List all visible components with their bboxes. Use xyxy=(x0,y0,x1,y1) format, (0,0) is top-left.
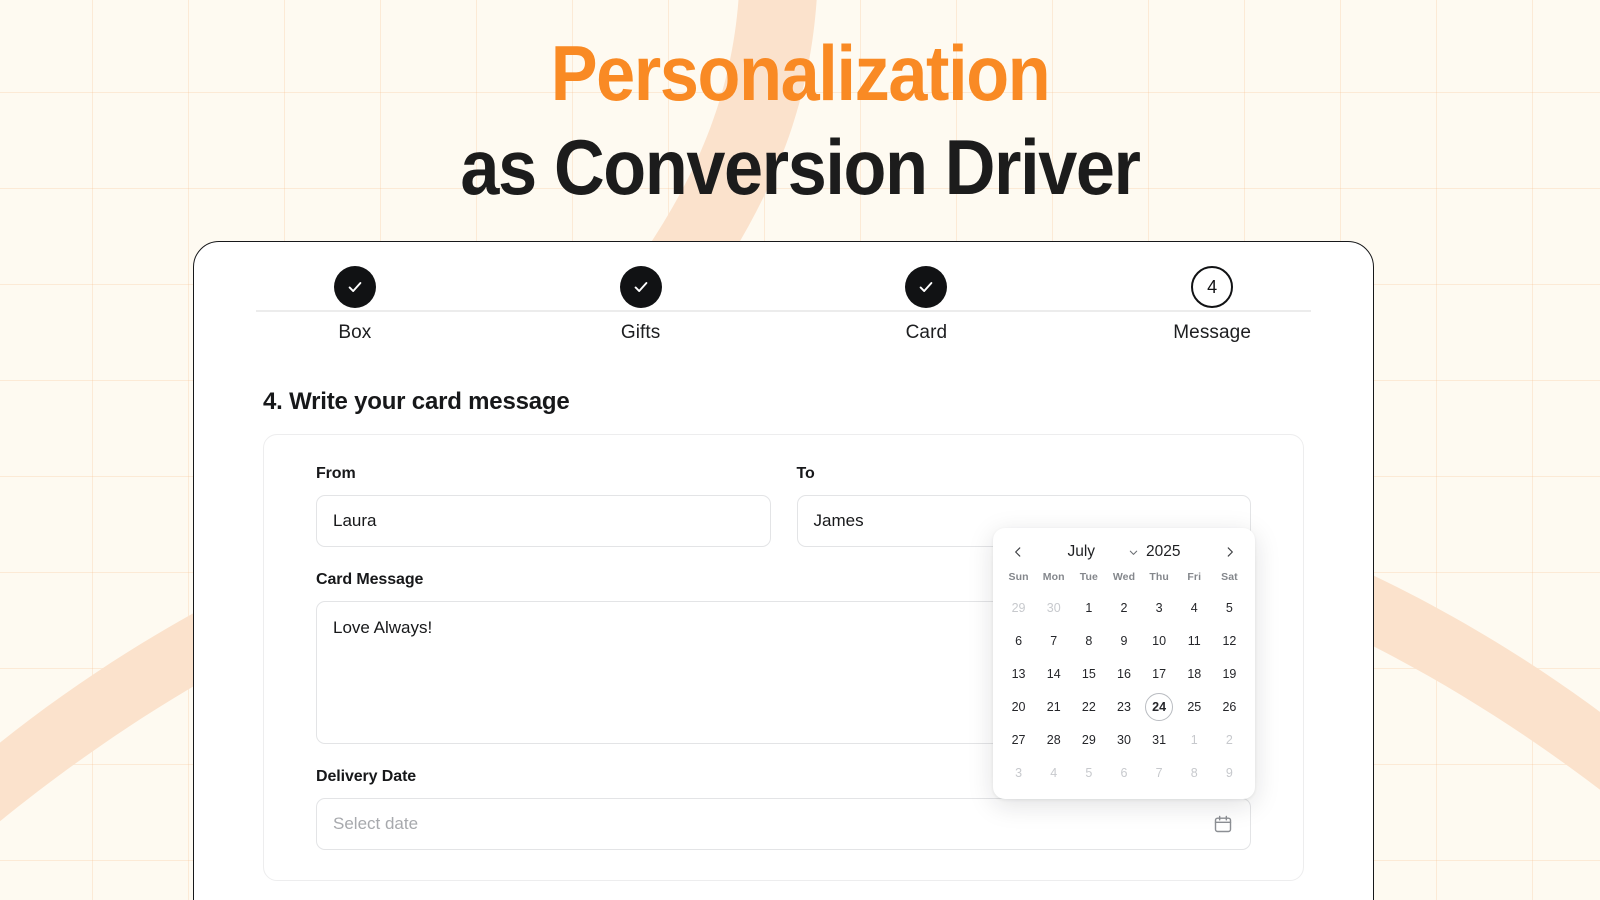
calendar-day-label: 12 xyxy=(1215,627,1243,655)
hero-title-line-1: Personalization xyxy=(80,26,1520,120)
calendar-header: July 2025 xyxy=(1001,540,1247,571)
calendar-day-label: 1 xyxy=(1180,726,1208,754)
calendar-day-label: 5 xyxy=(1215,594,1243,622)
calendar-day-label: 16 xyxy=(1110,660,1138,688)
calendar-day-cell[interactable]: 14 xyxy=(1036,657,1071,690)
calendar-day-label: 3 xyxy=(1005,759,1033,787)
calendar-day-cell[interactable]: 21 xyxy=(1036,690,1071,723)
calendar-day-label: 15 xyxy=(1075,660,1103,688)
calendar-day-label: 30 xyxy=(1040,594,1068,622)
calendar-day-cell[interactable]: 4 xyxy=(1177,591,1212,624)
calendar-day-cell: 1 xyxy=(1177,723,1212,756)
calendar-day-cell[interactable]: 6 xyxy=(1001,624,1036,657)
calendar-day-label: 27 xyxy=(1005,726,1033,754)
calendar-day-label: 13 xyxy=(1005,660,1033,688)
calendar-day-label: 25 xyxy=(1180,693,1208,721)
calendar-day-label: 22 xyxy=(1075,693,1103,721)
calendar-day-label: 7 xyxy=(1040,627,1068,655)
stepper: Box Gifts Card 4 xyxy=(194,266,1373,374)
calendar-day-label: 19 xyxy=(1215,660,1243,688)
calendar-day-label: 11 xyxy=(1180,627,1208,655)
calendar-day-cell[interactable]: 28 xyxy=(1036,723,1071,756)
calendar-day-label: 29 xyxy=(1075,726,1103,754)
calendar-day-cell[interactable]: 20 xyxy=(1001,690,1036,723)
calendar-day-label: 4 xyxy=(1040,759,1068,787)
to-label: To xyxy=(797,465,1252,483)
calendar-weekday-header: Thu xyxy=(1142,571,1177,591)
calendar-day-label: 9 xyxy=(1215,759,1243,787)
check-icon xyxy=(632,278,650,296)
calendar-day-cell: 5 xyxy=(1071,756,1106,789)
decorative-swoosh-right xyxy=(1340,520,1600,900)
calendar-day-cell[interactable]: 19 xyxy=(1212,657,1247,690)
calendar-day-cell[interactable]: 24 xyxy=(1142,690,1177,723)
calendar-day-label: 24 xyxy=(1145,693,1173,721)
page-title: 4. Write your card message xyxy=(263,388,1373,416)
calendar-day-cell[interactable]: 16 xyxy=(1106,657,1141,690)
calendar-day-label: 20 xyxy=(1005,693,1033,721)
calendar-day-label: 6 xyxy=(1110,759,1138,787)
calendar-day-label: 29 xyxy=(1005,594,1033,622)
calendar-day-cell[interactable]: 27 xyxy=(1001,723,1036,756)
calendar-day-cell[interactable]: 13 xyxy=(1001,657,1036,690)
sidebar-item-card[interactable]: Card xyxy=(831,266,1021,344)
step-bubble-box[interactable] xyxy=(334,266,376,308)
calendar-day-label: 1 xyxy=(1075,594,1103,622)
calendar-day-cell[interactable]: 15 xyxy=(1071,657,1106,690)
calendar-day-cell[interactable]: 29 xyxy=(1071,723,1106,756)
calendar-day-label: 17 xyxy=(1145,660,1173,688)
check-icon xyxy=(917,278,935,296)
calendar-day-cell[interactable]: 7 xyxy=(1036,624,1071,657)
step-label-gifts: Gifts xyxy=(621,322,661,344)
step-label-box: Box xyxy=(338,322,371,344)
hero-title: Personalization as Conversion Driver xyxy=(0,26,1600,214)
date-picker-popup[interactable]: July 2025 SunMonTueWedThuFriSat293012345… xyxy=(993,528,1255,799)
calendar-weekday-header: Fri xyxy=(1177,571,1212,591)
calendar-day-label: 21 xyxy=(1040,693,1068,721)
calendar-day-cell[interactable]: 17 xyxy=(1142,657,1177,690)
calendar-day-cell: 29 xyxy=(1001,591,1036,624)
step-bubble-message[interactable]: 4 xyxy=(1191,266,1233,308)
calendar-day-label: 2 xyxy=(1215,726,1243,754)
calendar-day-label: 18 xyxy=(1180,660,1208,688)
calendar-day-cell[interactable]: 10 xyxy=(1142,624,1177,657)
calendar-weekday-header: Sun xyxy=(1001,571,1036,591)
from-field-group: From Laura xyxy=(316,465,771,547)
check-icon xyxy=(346,278,364,296)
calendar-day-label: 14 xyxy=(1040,660,1068,688)
calendar-day-cell[interactable]: 25 xyxy=(1177,690,1212,723)
calendar-day-cell[interactable]: 22 xyxy=(1071,690,1106,723)
calendar-day-label: 23 xyxy=(1110,693,1138,721)
calendar-day-label: 5 xyxy=(1075,759,1103,787)
calendar-day-cell: 8 xyxy=(1177,756,1212,789)
calendar-day-cell[interactable]: 5 xyxy=(1212,591,1247,624)
calendar-day-cell[interactable]: 2 xyxy=(1106,591,1141,624)
calendar-day-label: 10 xyxy=(1145,627,1173,655)
calendar-weekday-header: Wed xyxy=(1106,571,1141,591)
calendar-icon[interactable] xyxy=(1212,813,1234,835)
chevron-down-icon[interactable] xyxy=(1128,547,1139,558)
calendar-day-cell: 4 xyxy=(1036,756,1071,789)
calendar-day-label: 6 xyxy=(1005,627,1033,655)
step-label-message: Message xyxy=(1173,322,1251,344)
from-label: From xyxy=(316,465,771,483)
calendar-day-cell[interactable]: 9 xyxy=(1106,624,1141,657)
calendar-grid: SunMonTueWedThuFriSat2930123456789101112… xyxy=(1001,571,1247,789)
calendar-day-cell[interactable]: 31 xyxy=(1142,723,1177,756)
chevron-right-icon[interactable] xyxy=(1221,543,1239,561)
calendar-title-group: July 2025 xyxy=(1027,543,1221,561)
calendar-day-label: 4 xyxy=(1180,594,1208,622)
calendar-weekday-header: Tue xyxy=(1071,571,1106,591)
hero-title-line-2: as Conversion Driver xyxy=(80,120,1520,214)
calendar-day-label: 8 xyxy=(1075,627,1103,655)
calendar-month-label[interactable]: July xyxy=(1067,543,1095,561)
calendar-day-cell[interactable]: 1 xyxy=(1071,591,1106,624)
calendar-day-cell[interactable]: 18 xyxy=(1177,657,1212,690)
calendar-weekday-header: Mon xyxy=(1036,571,1071,591)
calendar-day-cell[interactable]: 3 xyxy=(1142,591,1177,624)
calendar-day-cell: 2 xyxy=(1212,723,1247,756)
calendar-day-label: 2 xyxy=(1110,594,1138,622)
calendar-day-cell: 7 xyxy=(1142,756,1177,789)
calendar-day-cell[interactable]: 23 xyxy=(1106,690,1141,723)
calendar-day-cell[interactable]: 30 xyxy=(1106,723,1141,756)
calendar-day-label: 7 xyxy=(1145,759,1173,787)
calendar-day-label: 31 xyxy=(1145,726,1173,754)
calendar-day-label: 28 xyxy=(1040,726,1068,754)
calendar-day-cell[interactable]: 8 xyxy=(1071,624,1106,657)
sidebar-item-box[interactable]: Box xyxy=(260,266,450,344)
step-bubble-card[interactable] xyxy=(905,266,947,308)
calendar-day-cell[interactable]: 11 xyxy=(1177,624,1212,657)
chevron-left-icon[interactable] xyxy=(1009,543,1027,561)
calendar-day-label: 3 xyxy=(1145,594,1173,622)
delivery-date-input[interactable]: Select date xyxy=(316,798,1251,850)
calendar-weekday-header: Sat xyxy=(1212,571,1247,591)
calendar-day-cell[interactable]: 26 xyxy=(1212,690,1247,723)
calendar-day-label: 9 xyxy=(1110,627,1138,655)
from-input[interactable]: Laura xyxy=(316,495,771,547)
calendar-day-label: 26 xyxy=(1215,693,1243,721)
step-bubble-gifts[interactable] xyxy=(620,266,662,308)
calendar-day-cell: 30 xyxy=(1036,591,1071,624)
delivery-date-placeholder: Select date xyxy=(333,814,418,834)
sidebar-item-gifts[interactable]: Gifts xyxy=(546,266,736,344)
calendar-day-label: 30 xyxy=(1110,726,1138,754)
calendar-day-label: 8 xyxy=(1180,759,1208,787)
calendar-day-cell: 9 xyxy=(1212,756,1247,789)
calendar-day-cell: 6 xyxy=(1106,756,1141,789)
calendar-year-label[interactable]: 2025 xyxy=(1146,543,1180,561)
step-label-card: Card xyxy=(906,322,948,344)
calendar-day-cell[interactable]: 12 xyxy=(1212,624,1247,657)
sidebar-item-message[interactable]: 4 Message xyxy=(1117,266,1307,344)
calendar-day-cell: 3 xyxy=(1001,756,1036,789)
